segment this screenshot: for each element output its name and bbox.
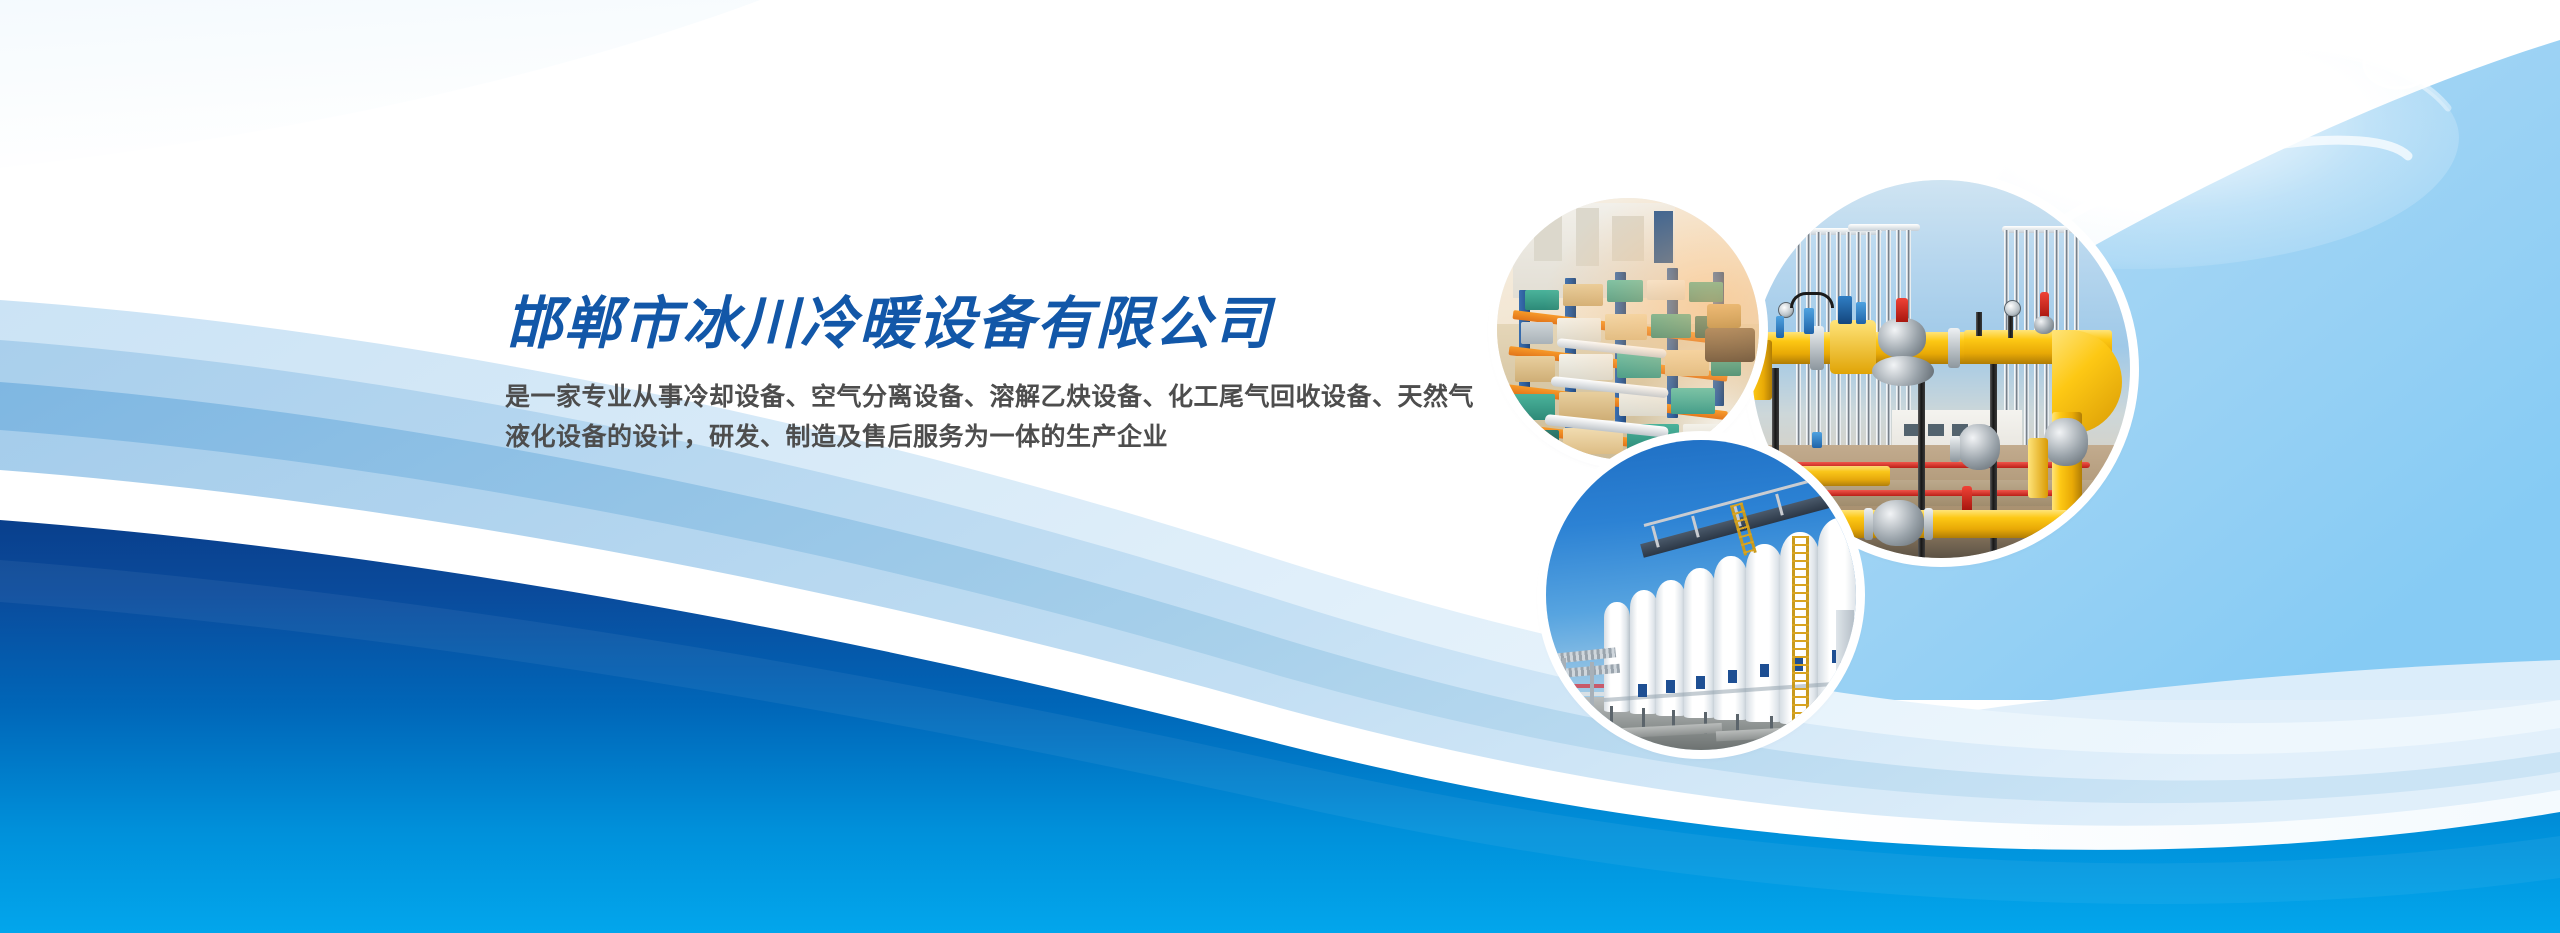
tanks-scene xyxy=(1546,440,1856,750)
photo-circle-tanks xyxy=(1546,440,1856,750)
photo-circle-warehouse xyxy=(1497,198,1759,460)
company-description: 是一家专业从事冷却设备、空气分离设备、溶解乙炔设备、化工尾气回收设备、天然气 液… xyxy=(505,377,1490,458)
banner-text-block: 邯郸市冰川冷暖设备有限公司 是一家专业从事冷却设备、空气分离设备、溶解乙炔设备、… xyxy=(505,295,1515,458)
layered-wave-background xyxy=(0,0,2560,933)
warehouse-scene xyxy=(1497,198,1759,460)
company-banner: 邯郸市冰川冷暖设备有限公司 是一家专业从事冷却设备、空气分离设备、溶解乙炔设备、… xyxy=(0,0,2560,933)
description-line-2: 液化设备的设计，研发、制造及售后服务为一体的生产企业 xyxy=(505,417,1490,458)
page-title: 邯郸市冰川冷暖设备有限公司 xyxy=(505,295,1515,355)
description-line-1: 是一家专业从事冷却设备、空气分离设备、溶解乙炔设备、化工尾气回收设备、天然气 xyxy=(505,377,1490,418)
